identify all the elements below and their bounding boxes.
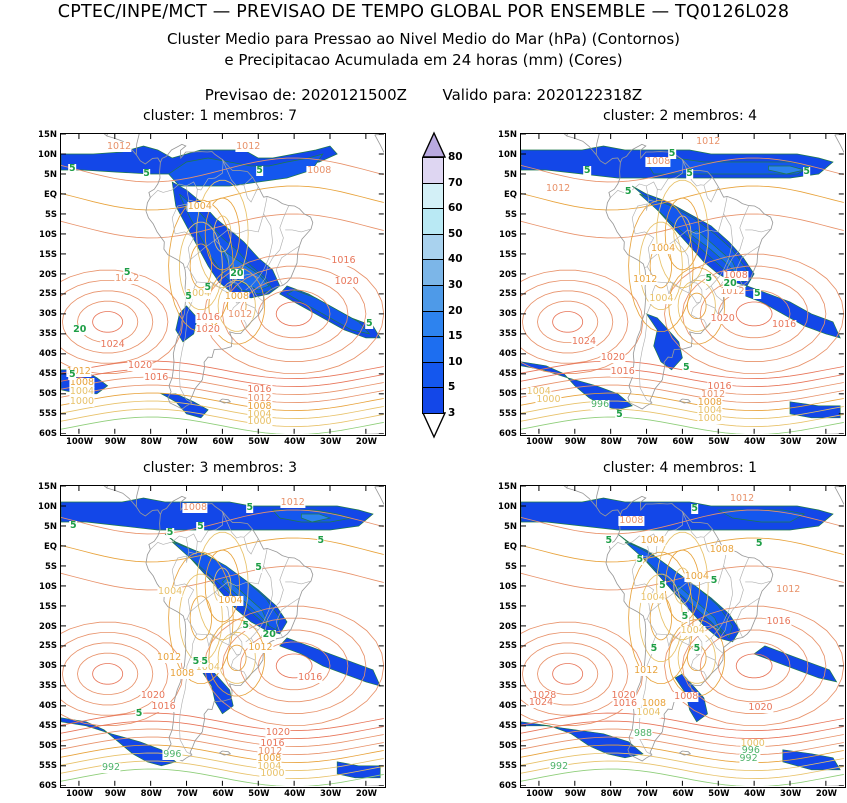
lon-tick-label: 100W	[526, 437, 553, 447]
lat-tick-label: 50S	[27, 389, 57, 399]
contour-label: 1024	[571, 337, 596, 347]
precip-label: 5	[753, 289, 761, 299]
lon-tick-label: 50W	[248, 437, 269, 447]
lat-tick-label: 5N	[487, 170, 517, 180]
precip-label: 5	[681, 612, 689, 622]
lat-tick-label: 55S	[27, 409, 57, 419]
lat-tick-label: 15S	[487, 250, 517, 260]
lon-tick-label: 80W	[141, 789, 162, 799]
lon-tick-label: 40W	[744, 437, 765, 447]
colorbar-tick-label: 15	[448, 330, 463, 342]
contour-label: 1016	[612, 699, 637, 709]
colorbar-tick-label: 10	[448, 356, 463, 368]
lon-tick-label: 90W	[105, 789, 126, 799]
colorbar-tick-label: 30	[448, 279, 463, 291]
contour-label: 1004	[680, 626, 705, 636]
precip-label: 5	[185, 292, 193, 302]
lat-tick-label: 50S	[487, 389, 517, 399]
forecast-from-label: Previsao de: 2020121500Z	[205, 86, 407, 104]
lat-tick-label: EQ	[27, 190, 57, 200]
contour-label: 1004	[640, 593, 665, 603]
map-panel-cluster-2[interactable]: 1012100810121004101210081012100410201016…	[520, 133, 846, 436]
lat-tick-label: 15S	[487, 602, 517, 612]
lat-tick-label: 60S	[27, 781, 57, 791]
chart-subtitle-line1: Cluster Medio para Pressao ao Nivel Medi…	[0, 30, 847, 48]
contour-label: 1012	[633, 275, 658, 285]
lat-tick-label: 50S	[27, 741, 57, 751]
colorbar-swatch	[422, 157, 444, 184]
contour-label: 988	[633, 729, 652, 739]
contour-label: 1012	[776, 585, 801, 595]
contour-label: 1008	[709, 545, 734, 555]
precip-label: 5	[143, 169, 151, 179]
lon-tick-label: 20W	[356, 437, 377, 447]
lat-tick-label: 10S	[487, 582, 517, 592]
lon-tick-label: 90W	[105, 437, 126, 447]
lon-tick-label: 90W	[565, 437, 586, 447]
contour-label: 1012	[236, 142, 261, 152]
lon-tick-label: 70W	[637, 437, 658, 447]
lat-tick-label: 55S	[487, 761, 517, 771]
lat-tick-label: 15S	[27, 602, 57, 612]
precip-label: 5	[803, 167, 811, 177]
lat-tick-label: 40S	[27, 349, 57, 359]
precip-label: 5	[616, 410, 624, 420]
map-panel-cluster-1[interactable]: 1012101210081004101210041008101610121020…	[60, 133, 386, 436]
contour-label: 1000	[536, 395, 561, 405]
contour-label: 1024	[528, 698, 553, 708]
precip-label: 5	[242, 621, 250, 631]
contour-label: 1012	[280, 498, 305, 508]
colorbar-tick-label: 5	[448, 381, 455, 393]
precip-label: 5	[166, 528, 174, 538]
lat-tick-label: 45S	[487, 721, 517, 731]
precip-label: 5	[686, 169, 694, 179]
colorbar-swatch	[422, 259, 444, 286]
contour-label: 1004	[649, 294, 674, 304]
lat-tick-label: 25S	[487, 641, 517, 651]
lon-tick-label: 40W	[744, 789, 765, 799]
lat-tick-label: 50S	[487, 741, 517, 751]
lat-tick-label: 45S	[27, 721, 57, 731]
precip-label: 5	[204, 283, 212, 293]
precip-label: 5	[69, 521, 77, 531]
map-render-2	[521, 134, 844, 434]
lat-tick-label: 20S	[27, 622, 57, 632]
precip-label: 5	[255, 563, 263, 573]
lat-tick-label: 10N	[27, 502, 57, 512]
contour-label: 1004	[158, 587, 183, 597]
lat-tick-label: 30S	[487, 309, 517, 319]
colorbar-tick-label: 20	[448, 305, 463, 317]
lat-tick-label: 5S	[27, 562, 57, 572]
lat-tick-label: 15S	[27, 250, 57, 260]
contour-label: 992	[101, 763, 120, 773]
precip-label: 5	[317, 536, 325, 546]
coastlines	[521, 134, 844, 434]
lon-tick-label: 20W	[356, 789, 377, 799]
precip-label: 5	[197, 522, 205, 532]
contour-label: 1000	[260, 769, 285, 779]
precip-label: 5	[192, 657, 200, 667]
contour-label: 1012	[157, 653, 182, 663]
lat-tick-label: 60S	[487, 429, 517, 439]
lat-tick-label: 20S	[27, 270, 57, 280]
contour-label: 1020	[710, 314, 735, 324]
precip-label: 5	[256, 166, 264, 176]
colorbar-swatch	[422, 362, 444, 389]
page-title: CPTEC/INPE/MCT — PREVISAO DE TEMPO GLOBA…	[0, 2, 847, 22]
contour-label: 1016	[298, 673, 323, 683]
lon-tick-label: 100W	[66, 789, 93, 799]
colorbar-swatch	[422, 311, 444, 338]
lat-tick-label: 10S	[487, 230, 517, 240]
lat-tick-label: 35S	[27, 681, 57, 691]
contour-label: 1000	[697, 414, 722, 424]
contour-label: 1016	[144, 373, 169, 383]
contour-label: 1020	[265, 728, 290, 738]
contour-label: 996	[591, 400, 610, 410]
contour-label: 1012	[107, 142, 132, 152]
contour-label: 1012	[634, 666, 659, 676]
lon-tick-label: 70W	[177, 437, 198, 447]
colorbar-swatch	[422, 208, 444, 235]
lat-tick-label: EQ	[487, 190, 517, 200]
contour-label: 1016	[766, 617, 791, 627]
colorbar-swatch	[422, 285, 444, 312]
lat-tick-label: 15N	[487, 130, 517, 140]
lon-tick-label: 60W	[212, 437, 233, 447]
lat-tick-label: 25S	[27, 641, 57, 651]
lat-tick-label: 40S	[487, 701, 517, 711]
chart-subtitle-line2: e Precipitacao Acumulada em 24 horas (mm…	[0, 51, 847, 69]
contour-label: 1012	[730, 494, 755, 504]
contour-label: 1016	[771, 320, 796, 330]
contour-label: 1000	[69, 397, 94, 407]
lat-tick-label: 10N	[487, 502, 517, 512]
lon-tick-label: 80W	[601, 437, 622, 447]
lon-tick-label: 60W	[212, 789, 233, 799]
contour-label: 1008	[182, 503, 207, 513]
contour-label: 1024	[100, 340, 125, 350]
lon-tick-label: 60W	[672, 789, 693, 799]
precip-label: 5	[624, 187, 632, 197]
lat-tick-label: 35S	[27, 329, 57, 339]
contour-label: 1004	[187, 202, 212, 212]
precip-label: 20	[230, 269, 244, 279]
contour-label: 1008	[224, 292, 249, 302]
lon-tick-label: 60W	[672, 437, 693, 447]
map-render-3	[61, 486, 384, 786]
precip-label: 5	[705, 274, 713, 284]
contour-label: 1004	[640, 536, 665, 546]
pressure-contours	[61, 158, 384, 434]
lat-tick-label: 10S	[27, 230, 57, 240]
lon-tick-label: 40W	[284, 437, 305, 447]
precip-label: 5	[710, 576, 718, 586]
lat-tick-label: EQ	[27, 542, 57, 552]
precip-label: 5	[650, 644, 658, 654]
lat-tick-label: 20S	[487, 270, 517, 280]
contour-label: 1012	[696, 137, 721, 147]
lat-tick-label: 35S	[487, 681, 517, 691]
coastlines	[61, 486, 384, 786]
contour-label: 1016	[195, 313, 220, 323]
panel-title-cluster-2: cluster: 2 membros: 4	[515, 108, 845, 124]
precip-label: 5	[365, 319, 373, 329]
contour-label: 1008	[169, 669, 194, 679]
contour-label: 1004	[650, 244, 675, 254]
precip-label: 5	[583, 166, 591, 176]
contour-label: 1016	[610, 367, 635, 377]
lon-tick-label: 30W	[780, 789, 801, 799]
lat-tick-label: 20S	[487, 622, 517, 632]
panel-title-cluster-4: cluster: 4 membros: 1	[515, 460, 845, 476]
lat-tick-label: 30S	[487, 661, 517, 671]
contour-label: 1012	[228, 310, 253, 320]
lat-tick-label: 5S	[27, 210, 57, 220]
contour-label: 1020	[748, 703, 773, 713]
lon-tick-label: 80W	[141, 437, 162, 447]
lon-tick-label: 80W	[601, 789, 622, 799]
lat-tick-label: 30S	[27, 661, 57, 671]
contour-label: 992	[550, 762, 569, 772]
panel-title-cluster-1: cluster: 1 membros: 7	[55, 108, 385, 124]
colorbar-tick-label: 80	[448, 151, 463, 163]
contour-label: 1004	[684, 572, 709, 582]
lon-tick-label: 70W	[177, 789, 198, 799]
contour-label: 1012	[248, 643, 273, 653]
contour-label: 1016	[331, 256, 356, 266]
colorbar-swatch	[422, 387, 444, 414]
lon-tick-label: 100W	[526, 789, 553, 799]
lat-tick-label: 10S	[27, 582, 57, 592]
contour-label: 1008	[646, 157, 671, 167]
colorbar-swatch	[422, 183, 444, 210]
precip-label: 5	[668, 149, 676, 159]
lat-tick-label: 45S	[487, 369, 517, 379]
lat-tick-label: 5N	[27, 522, 57, 532]
lon-tick-label: 30W	[320, 437, 341, 447]
contour-label: 1008	[674, 692, 699, 702]
lat-tick-label: 35S	[487, 329, 517, 339]
contour-label: 1004	[218, 596, 243, 606]
precip-label: 5	[68, 370, 76, 380]
precip-label: 5	[246, 503, 254, 513]
precip-label: 5	[691, 504, 699, 514]
contour-label: 992	[739, 754, 758, 764]
valid-for-label: Valido para: 2020122318Z	[443, 86, 643, 104]
colorbar-tick-label: 3	[448, 407, 455, 419]
precip-label: 5	[659, 581, 667, 591]
precip-label: 20	[723, 279, 737, 289]
lon-tick-label: 50W	[248, 789, 269, 799]
lat-tick-label: 15N	[487, 482, 517, 492]
precip-label: 5	[605, 536, 613, 546]
colorbar-tick-label: 40	[448, 253, 463, 265]
lon-tick-label: 40W	[284, 789, 305, 799]
contour-label: 996	[163, 750, 182, 760]
contour-label: 1000	[247, 417, 272, 427]
colorbar-swatch	[422, 336, 444, 363]
precip-label: 5	[755, 539, 763, 549]
precip-label: 5	[123, 268, 131, 278]
contour-label: 1012	[546, 184, 571, 194]
lon-tick-label: 50W	[708, 789, 729, 799]
contour-label: 1016	[151, 702, 176, 712]
lat-tick-label: 60S	[487, 781, 517, 791]
precip-label: 5	[636, 555, 644, 565]
lon-tick-label: 20W	[816, 789, 837, 799]
contour-label: 1020	[334, 277, 359, 287]
map-panel-cluster-4[interactable]: 1012100810041008100410121004101610041012…	[520, 485, 846, 788]
precipitation-colorbar[interactable]: 35101520304050607080	[422, 131, 482, 441]
pressure-contours	[521, 510, 844, 786]
contour-label: 1008	[307, 166, 332, 176]
lat-tick-label: 25S	[487, 289, 517, 299]
precip-label: 5	[135, 709, 143, 719]
forecast-time-line: Previsao de: 2020121500Z Valido para: 20…	[0, 86, 847, 104]
pressure-contours	[61, 510, 384, 786]
lat-tick-label: 55S	[487, 409, 517, 419]
contour-label: 1020	[140, 691, 165, 701]
precip-label: 20	[262, 630, 276, 640]
lat-tick-label: 55S	[27, 761, 57, 771]
map-panel-cluster-3[interactable]: 1008101210041004101210081004101210161020…	[60, 485, 386, 788]
lat-tick-label: 10N	[487, 150, 517, 160]
lon-tick-label: 100W	[66, 437, 93, 447]
contour-label: 1020	[600, 353, 625, 363]
precip-label: 5	[68, 164, 76, 174]
colorbar-tick-label: 60	[448, 202, 463, 214]
lat-tick-label: 5S	[487, 562, 517, 572]
pressure-contours	[521, 158, 844, 434]
precip-label: 5	[682, 363, 690, 373]
lon-tick-label: 20W	[816, 437, 837, 447]
colorbar-swatch	[422, 234, 444, 261]
lat-tick-label: 15N	[27, 482, 57, 492]
colorbar-tick-label: 50	[448, 228, 463, 240]
lat-tick-label: EQ	[487, 542, 517, 552]
panel-title-cluster-3: cluster: 3 membros: 3	[55, 460, 385, 476]
lat-tick-label: 25S	[27, 289, 57, 299]
lat-tick-label: 45S	[27, 369, 57, 379]
precip-label: 5	[693, 644, 701, 654]
precip-label: 5	[201, 657, 209, 667]
lon-tick-label: 30W	[320, 789, 341, 799]
colorbar-tick-label: 70	[448, 177, 463, 189]
contour-label: 1008	[619, 516, 644, 526]
contour-label: 1004	[636, 708, 661, 718]
lon-tick-label: 70W	[637, 789, 658, 799]
lat-tick-label: 10N	[27, 150, 57, 160]
contour-label: 1020	[195, 325, 220, 335]
lat-tick-label: 30S	[27, 309, 57, 319]
lon-tick-label: 90W	[565, 789, 586, 799]
lon-tick-label: 50W	[708, 437, 729, 447]
lat-tick-label: 15N	[27, 130, 57, 140]
lat-tick-label: 5N	[487, 522, 517, 532]
lat-tick-label: 40S	[487, 349, 517, 359]
lon-tick-label: 30W	[780, 437, 801, 447]
lat-tick-label: 5N	[27, 170, 57, 180]
contour-label: 1020	[127, 361, 152, 371]
lat-tick-label: 40S	[27, 701, 57, 711]
lat-tick-label: 5S	[487, 210, 517, 220]
lat-tick-label: 60S	[27, 429, 57, 439]
precip-label: 20	[73, 325, 87, 335]
